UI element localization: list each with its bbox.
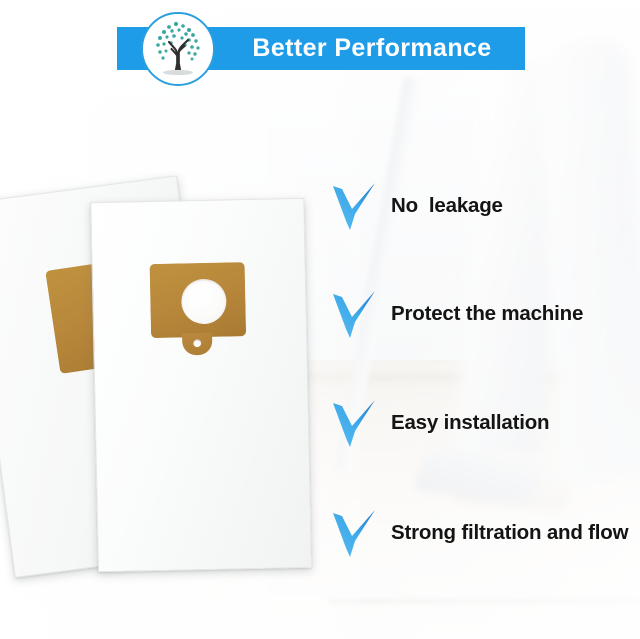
- vacuum-bag-front: [90, 198, 312, 572]
- collar-tab-hole: [193, 339, 201, 347]
- blue-checkmark-icon: [331, 288, 381, 340]
- feature-row-2: Protect the machine: [331, 286, 636, 342]
- feature-row-1: No leakage: [331, 178, 636, 234]
- feature-label: Easy installation: [391, 411, 549, 435]
- feature-label: Strong filtration and flow: [391, 521, 628, 545]
- blue-checkmark-icon: [331, 180, 381, 232]
- banner-title: Better Performance: [219, 27, 525, 70]
- blue-checkmark-icon: [331, 397, 381, 449]
- tree-logo-icon: [141, 12, 215, 86]
- feature-row-3: Easy installation: [331, 395, 636, 451]
- feature-label: Protect the machine: [391, 302, 583, 326]
- product-feature-image: Better Performance: [0, 0, 640, 639]
- feature-label: No leakage: [391, 194, 503, 218]
- collar-intake-hole: [181, 278, 227, 324]
- feature-row-4: Strong filtration and flow: [331, 505, 636, 561]
- collar-tab: [182, 333, 212, 356]
- bag-collar-front: [150, 262, 247, 338]
- blue-checkmark-icon: [331, 507, 381, 559]
